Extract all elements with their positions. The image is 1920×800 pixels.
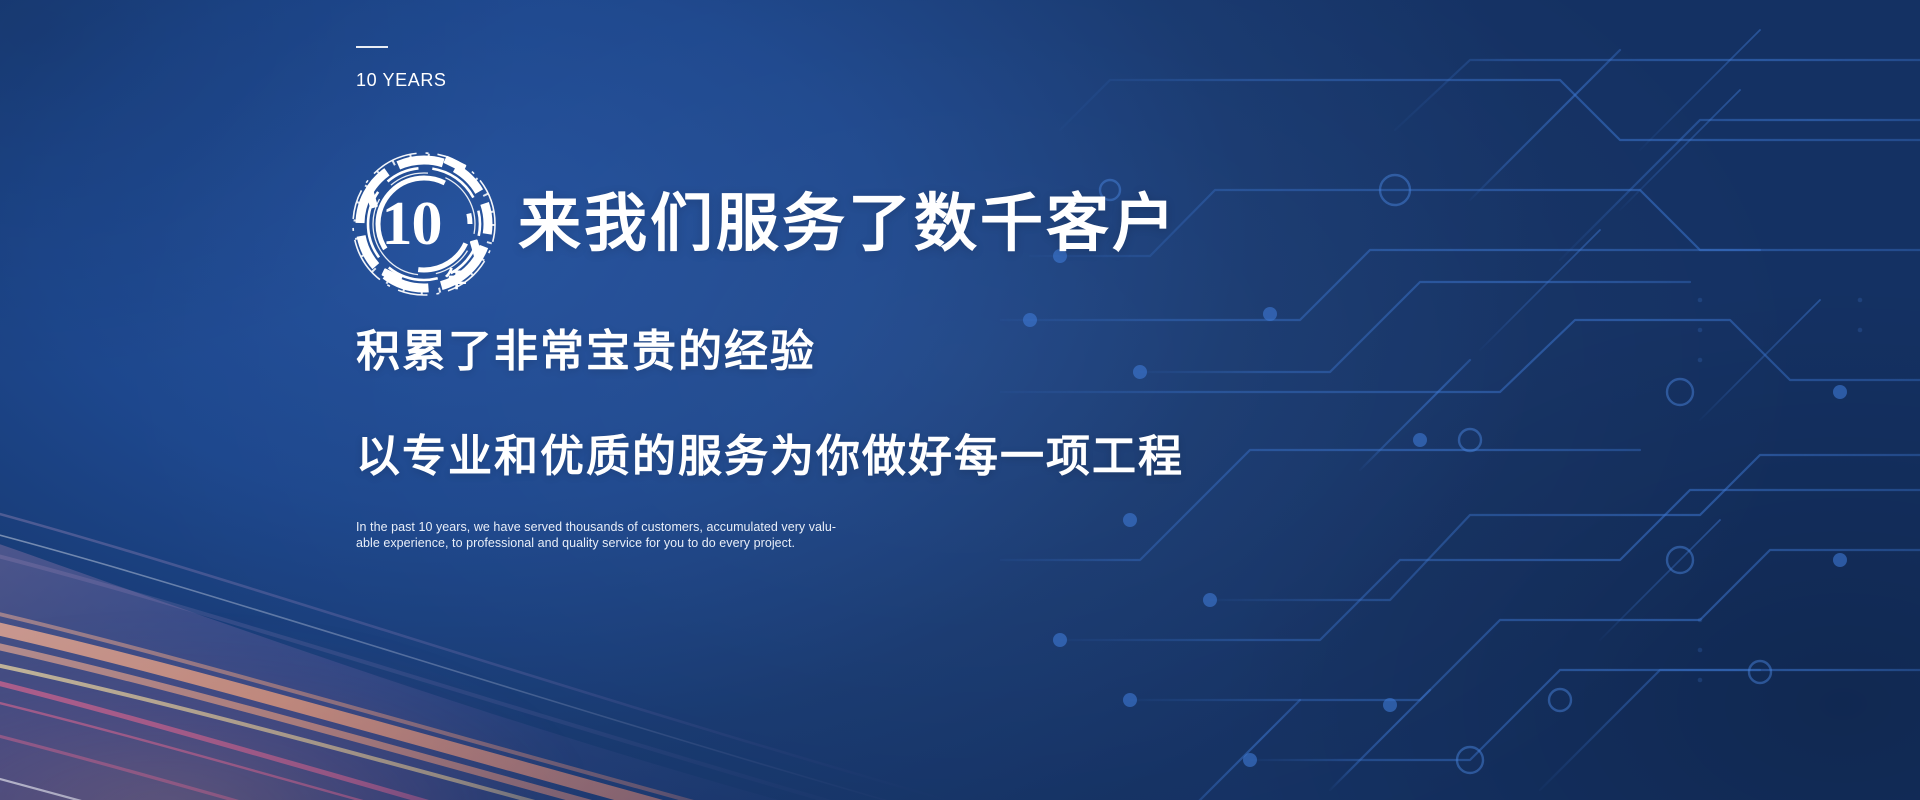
headline-main: 来我们服务了数千客户 [518,193,1178,256]
subline-experience: 积累了非常宝贵的经验 [356,330,816,374]
english-paragraph-line-2: able experience, to professional and qua… [356,535,786,551]
badge-label: 10 年 [348,148,500,300]
subline-service: 以专业和优质的服务为你做好每一项工程 [356,435,1184,479]
headline-row: 10 年 来我们服务了数千客户 [348,148,1178,300]
english-paragraph-line-1: In the past 10 years, we have served tho… [356,519,786,535]
eyebrow-divider [356,46,388,48]
badge-unit: 年 [444,269,466,291]
hero-banner: 10 YEARS [0,0,1920,800]
badge-number: 10 [381,193,441,255]
ten-year-badge: 10 年 [348,148,500,300]
eyebrow-label: 10 YEARS [356,70,447,91]
banner-content: 10 YEARS [356,0,1556,800]
english-paragraph: In the past 10 years, we have served tho… [356,519,786,551]
